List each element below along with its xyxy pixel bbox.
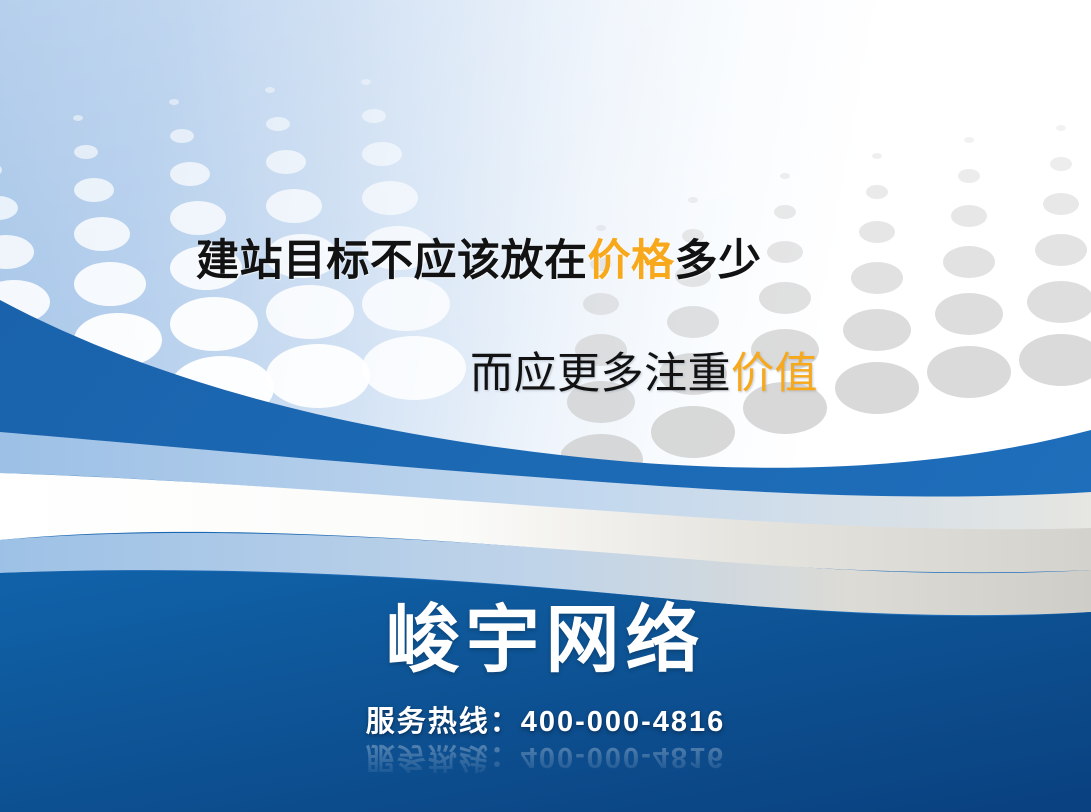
headline-line-2-accent: 价值 [731,350,818,398]
presentation-slide: 建站目标不应该放在价格多少 而应更多注重价值 峻宇网络 服务热线：400-000… [0,0,1091,812]
headline-line-1-after: 多少 [675,237,762,285]
hotline-text: 服务热线：400-000-4816 [0,698,1091,740]
headline-line-2: 而应更多注重价值 [0,349,1091,400]
headline-line-1-accent: 价格 [588,237,675,285]
headline-line-1: 建站目标不应该放在价格多少 [0,236,1091,287]
brand-name: 峻宇网络 [0,580,1091,687]
headline-block: 建站目标不应该放在价格多少 而应更多注重价值 [0,236,1091,399]
hotline-reflection: 服务热线：400-000-4816 [0,739,1091,781]
brand-block: 峻宇网络 服务热线：400-000-4816 服务热线：400-000-4816 [0,572,1091,812]
headline-line-1-before: 建站目标不应该放在 [196,237,588,285]
headline-line-2-before: 而应更多注重 [470,350,731,398]
